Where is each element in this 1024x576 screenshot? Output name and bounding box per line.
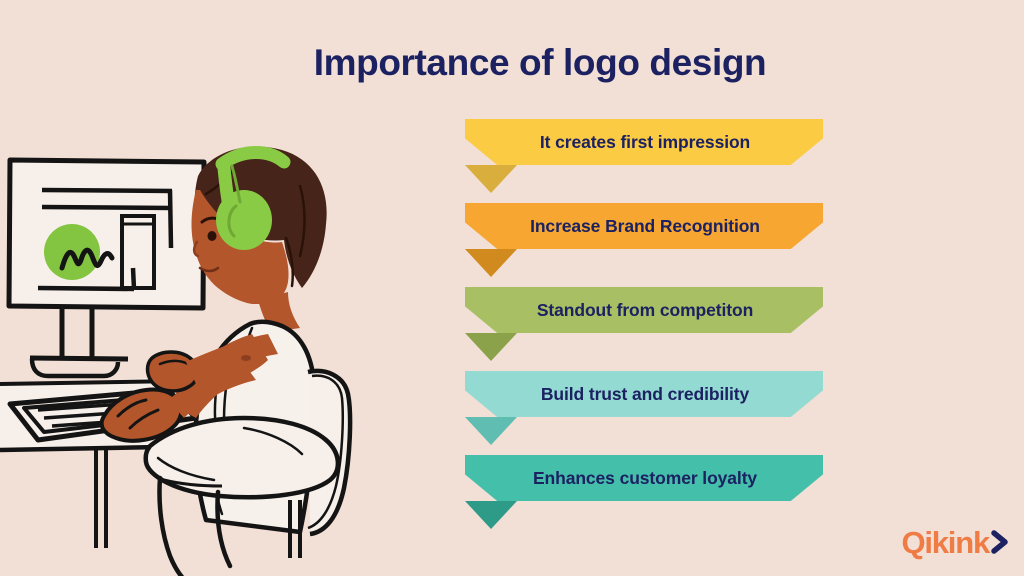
- banner-fold-3: [465, 333, 517, 361]
- banner-label-4: Build trust and credibility: [533, 384, 755, 405]
- logo-wordmark: Qikink: [901, 527, 989, 558]
- qikink-logo[interactable]: Qikink: [901, 522, 1010, 562]
- banner-label-5: Enhances customer loyalty: [525, 468, 763, 489]
- banner-body-2: Increase Brand Recognition: [465, 203, 823, 249]
- banner-item-4[interactable]: Build trust and credibility: [465, 371, 823, 439]
- banner-label-3: Standout from competiton: [529, 300, 759, 321]
- banner-label-1: It creates first impression: [532, 132, 756, 153]
- banner-fold-5: [465, 501, 517, 529]
- banner-body-3: Standout from competiton: [465, 287, 823, 333]
- monitor-group: [8, 160, 204, 376]
- illustration-designer-at-computer: [0, 128, 440, 576]
- page-title: Importance of logo design: [240, 42, 840, 85]
- banner-label-2: Increase Brand Recognition: [522, 216, 766, 237]
- chevron-right-icon: [990, 528, 1010, 556]
- banner-body-4: Build trust and credibility: [465, 371, 823, 417]
- banner-fold-2: [465, 249, 517, 277]
- banner-item-3[interactable]: Standout from competiton: [465, 287, 823, 355]
- banner-body-1: It creates first impression: [465, 119, 823, 165]
- banner-fold-4: [465, 417, 517, 445]
- infographic-slide: Importance of logo design: [0, 0, 1024, 576]
- benefits-banner-list: It creates first impression Increase Bra…: [465, 119, 825, 519]
- banner-fold-1: [465, 165, 517, 193]
- banner-item-2[interactable]: Increase Brand Recognition: [465, 203, 823, 271]
- banner-item-1[interactable]: It creates first impression: [465, 119, 823, 187]
- banner-item-5[interactable]: Enhances customer loyalty: [465, 455, 823, 523]
- banner-body-5: Enhances customer loyalty: [465, 455, 823, 501]
